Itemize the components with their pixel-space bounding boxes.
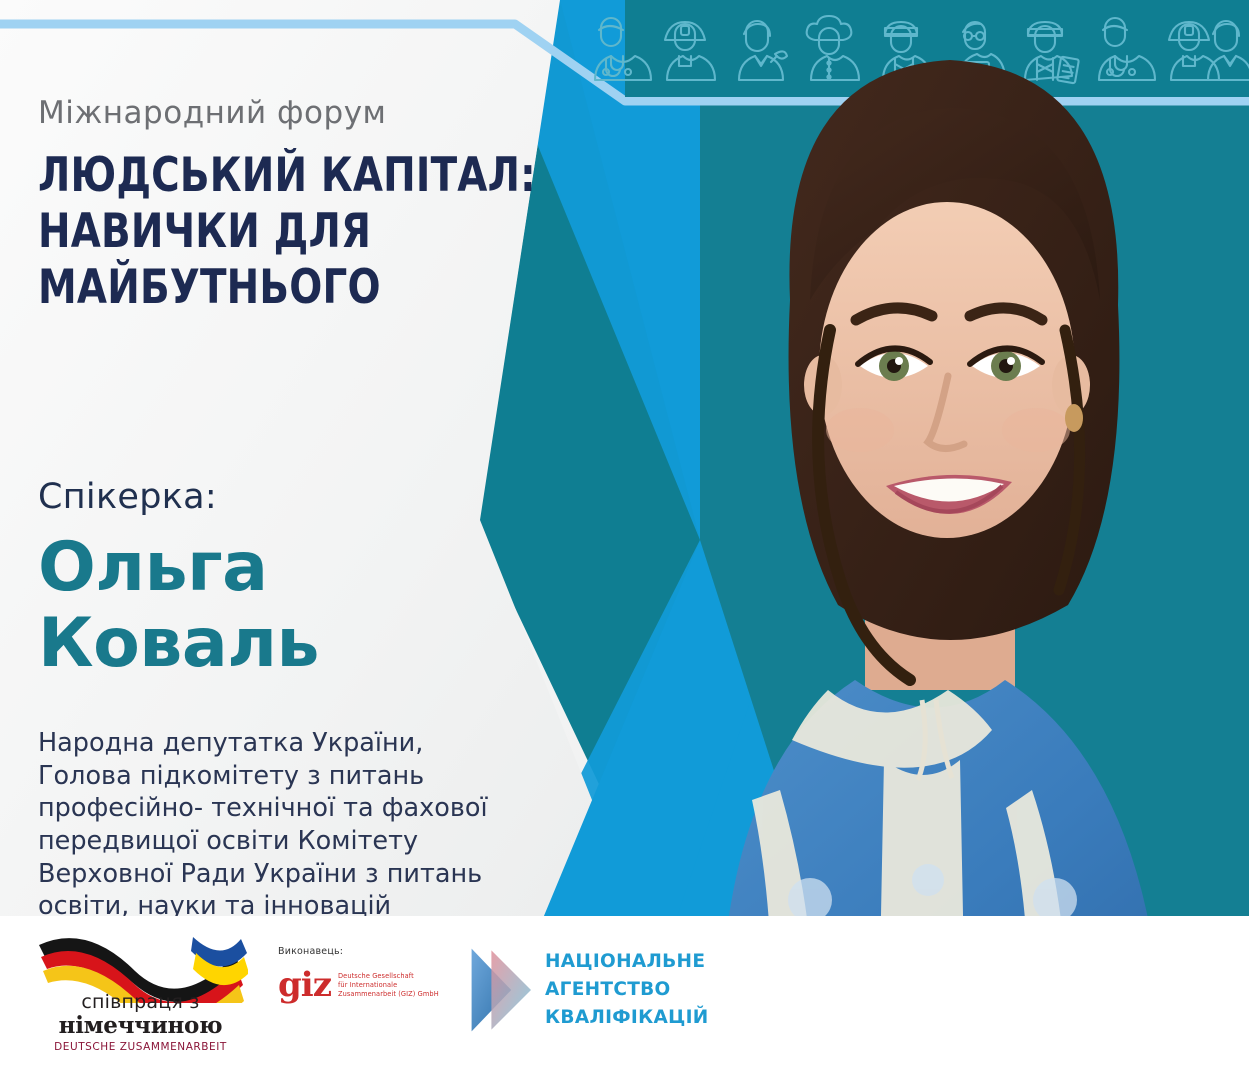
- bio-line-5: Верховної Ради України з питань: [38, 858, 583, 891]
- bio-line-3: професійно- технічної та фахової: [38, 792, 583, 825]
- bio-line-2: Голова підкомітету з питань: [38, 760, 583, 793]
- speaker-photo: [660, 0, 1249, 1070]
- germany-logo-line-1: співпраця з: [33, 993, 248, 1013]
- giz-sub-line-3: Zusammenarbeit (GIZ) GmbH: [338, 990, 439, 999]
- poster-headline: ЛЮДСЬКИЙ КАПІТАЛ: НАВИЧКИ ДЛЯ МАЙБУТНЬОГ…: [38, 148, 535, 316]
- giz-subtitle: Deutsche Gesellschaft für Internationale…: [338, 972, 439, 999]
- speaker-name: Ольга Коваль: [38, 530, 598, 682]
- germany-logo-text: співпраця з німеччиною DEUTSCHE ZUSAMMEN…: [33, 993, 248, 1053]
- nak-line-1: НАЦІОНАЛЬНЕ: [545, 948, 709, 976]
- speaker-bio: Народна депутатка України, Голова підком…: [38, 727, 583, 923]
- headline-line-2: НАВИЧКИ ДЛЯ: [38, 204, 535, 260]
- doctor-icon: [595, 18, 651, 80]
- footer-logo-row: співпраця з німеччиною DEUTSCHE ZUSAMMEN…: [0, 916, 760, 1070]
- giz-sub-line-1: Deutsche Gesellschaft: [338, 972, 439, 981]
- headline-line-1: ЛЮДСЬКИЙ КАПІТАЛ:: [38, 148, 535, 204]
- bio-line-4: передвищої освіти Комітету: [38, 825, 583, 858]
- forum-kicker: Міжнародний форум: [38, 95, 386, 131]
- headline-line-3: МАЙБУТНЬОГО: [38, 260, 535, 316]
- nak-logo-text: НАЦІОНАЛЬНЕ АГЕНТСТВО КВАЛІФІКАЦІЙ: [545, 948, 709, 1032]
- giz-logo: Виконавець: giz Deutsche Gesellschaft fü…: [278, 946, 448, 1036]
- event-announcement-poster: Міжнародний форум ЛЮДСЬКИЙ КАПІТАЛ: НАВИ…: [0, 0, 1249, 1070]
- footer-bar: співпраця з німеччиною DEUTSCHE ZUSAMMEN…: [0, 916, 1249, 1070]
- giz-sub-line-2: für Internationale: [338, 981, 439, 990]
- speaker-label: Спікерка:: [38, 477, 217, 517]
- speaker-portrait-illustration: [660, 0, 1249, 1070]
- bio-line-1: Народна депутатка України,: [38, 727, 583, 760]
- speaker-last-name: Коваль: [38, 606, 598, 682]
- giz-caption: Виконавець:: [278, 946, 448, 957]
- giz-wordmark: giz: [278, 971, 331, 1000]
- national-qualifications-agency-logo: НАЦІОНАЛЬНЕ АГЕНТСТВО КВАЛІФІКАЦІЙ: [468, 940, 738, 1045]
- nak-arrow-icon: [468, 940, 540, 1040]
- nak-line-3: КВАЛІФІКАЦІЙ: [545, 1004, 709, 1032]
- germany-logo-line-2: німеччиною: [33, 1013, 248, 1038]
- germany-cooperation-logo: співпраця з німеччиною DEUTSCHE ZUSAMMEN…: [33, 931, 248, 1051]
- nak-line-2: АГЕНТСТВО: [545, 976, 709, 1004]
- germany-logo-line-3: DEUTSCHE ZUSAMMENARBEIT: [33, 1041, 248, 1053]
- speaker-first-name: Ольга: [38, 530, 598, 606]
